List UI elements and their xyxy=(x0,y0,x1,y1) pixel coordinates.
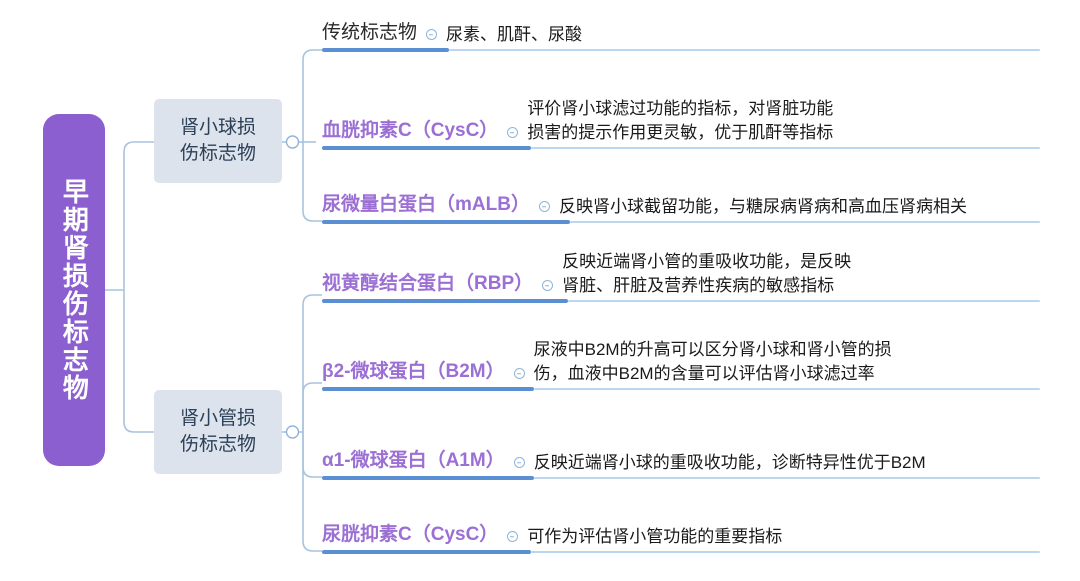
root-node-label: 早期肾损伤标志物 xyxy=(57,178,92,402)
collapse-circle-icon[interactable] xyxy=(539,201,550,212)
leaf-underline-faint xyxy=(531,147,1040,149)
mindmap-canvas: 早期肾损伤标志物 肾小球损 伤标志物 肾小管损 伤标志物 传统标志物 尿素、肌酐… xyxy=(0,0,1080,581)
collapse-circle-icon[interactable] xyxy=(507,127,518,138)
leaf-underline-strong xyxy=(322,299,568,303)
leaf-underline-faint xyxy=(534,388,1040,390)
root-node[interactable]: 早期肾损伤标志物 xyxy=(43,114,105,466)
leaf-description: 尿素、肌酐、尿酸 xyxy=(446,23,582,52)
branch-node-label: 肾小管损 伤标志物 xyxy=(180,406,256,458)
collapse-circle-icon[interactable] xyxy=(507,531,518,542)
leaf-row-traditional[interactable]: 传统标志物 尿素、肌酐、尿酸 xyxy=(322,14,1040,52)
leaf-underline-faint xyxy=(531,551,1040,553)
branch-node-tubular[interactable]: 肾小管损 伤标志物 xyxy=(154,390,282,474)
leaf-row-serum-cysc[interactable]: 血胱抑素C（CysC） 评价肾小球滤过功能的指标，对肾脏功能 损害的提示作用更灵… xyxy=(322,92,1040,150)
leaf-underline-strong xyxy=(322,146,531,150)
leaf-row-a1m[interactable]: α1-微球蛋白（A1M） 反映近端肾小球的重吸收功能，诊断特异性优于B2M xyxy=(322,442,1040,480)
leaf-description: 评价肾小球滤过功能的指标，对肾脏功能 损害的提示作用更灵敏，优于肌酐等指标 xyxy=(527,97,833,150)
collapse-circle-icon[interactable] xyxy=(542,280,553,291)
leaf-underline-strong xyxy=(322,476,534,480)
leaf-description: 反映肾小球截留功能，与糖尿病肾病和高血压肾病相关 xyxy=(559,195,967,224)
leaf-underline-strong xyxy=(322,48,449,52)
leaf-row-urine-cysc[interactable]: 尿胱抑素C（CysC） 可作为评估肾小管功能的重要指标 xyxy=(322,516,1040,554)
collapse-circle-icon[interactable] xyxy=(426,29,437,40)
leaf-underline-strong xyxy=(322,220,570,224)
leaf-underline-strong xyxy=(322,387,534,391)
collapse-circle-icon[interactable] xyxy=(514,457,525,468)
leaf-underline-faint xyxy=(568,300,1040,302)
leaf-underline-faint xyxy=(570,221,1040,223)
leaf-underline-strong xyxy=(322,550,531,554)
branch-node-glomerular[interactable]: 肾小球损 伤标志物 xyxy=(154,99,282,183)
leaf-row-rbp[interactable]: 视黄醇结合蛋白（RBP） 反映近端肾小管的重吸收功能，是反映 肾脏、肝脏及营养性… xyxy=(322,245,1040,303)
leaf-description: 反映近端肾小管的重吸收功能，是反映 肾脏、肝脏及营养性疾病的敏感指标 xyxy=(562,250,851,303)
leaf-underline-faint xyxy=(449,49,1040,51)
collapse-circle-icon[interactable] xyxy=(514,368,525,379)
branch-node-label: 肾小球损 伤标志物 xyxy=(180,115,256,167)
leaf-description: 可作为评估肾小管功能的重要指标 xyxy=(527,525,782,554)
leaf-description: 反映近端肾小球的重吸收功能，诊断特异性优于B2M xyxy=(534,451,926,480)
leaf-row-b2m[interactable]: β2-微球蛋白（B2M） 尿液中B2M的升高可以区分肾小球和肾小管的损 伤，血液… xyxy=(322,333,1040,391)
leaf-description: 尿液中B2M的升高可以区分肾小球和肾小管的损 伤，血液中B2M的含量可以评估肾小… xyxy=(534,338,892,391)
leaf-row-malb[interactable]: 尿微量白蛋白（mALB） 反映肾小球截留功能，与糖尿病肾病和高血压肾病相关 xyxy=(322,186,1040,224)
leaf-underline-faint xyxy=(534,477,1040,479)
